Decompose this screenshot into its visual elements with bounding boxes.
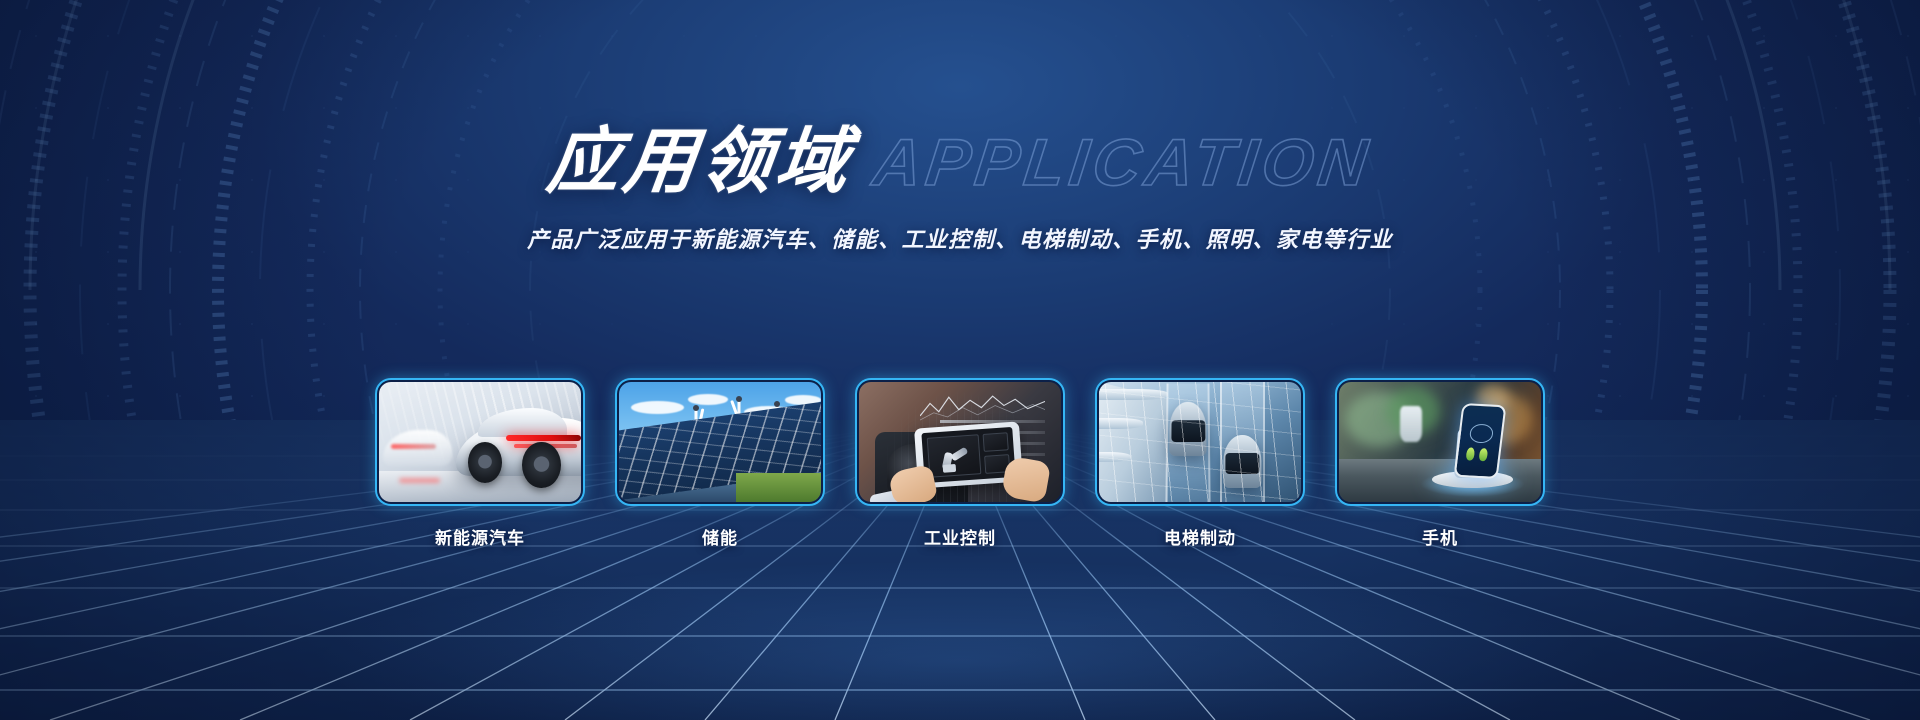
page-title-cn: 应用领域 [544,126,857,198]
application-card-ev[interactable]: 新能源汽车 [375,378,585,549]
card-thumbnail-frame[interactable] [615,378,825,506]
page-title-en: APPLICATION [870,129,1376,195]
industrial-tablet-automation-photo [859,382,1061,502]
banner-heading: 应用领域 APPLICATION [0,126,1920,198]
application-card-row: 新能源汽车 [0,378,1920,549]
card-label: 工业控制 [924,524,996,549]
application-card-energy-storage[interactable]: 储能 [615,378,825,549]
glass-elevators-photo [1099,382,1301,502]
smartphone-wireless-charger-photo [1339,382,1541,502]
application-card-mobile-phone[interactable]: 手机 [1335,378,1545,549]
card-label: 电梯制动 [1164,524,1236,549]
ev-sports-car-photo [379,382,581,502]
card-thumbnail-frame[interactable] [375,378,585,506]
card-thumbnail-frame[interactable] [1095,378,1305,506]
solar-panels-wind-turbines-photo [619,382,821,502]
card-label: 储能 [702,524,738,549]
card-thumbnail-frame[interactable] [1335,378,1545,506]
application-card-elevator-brake[interactable]: 电梯制动 [1095,378,1305,549]
application-card-industrial-control[interactable]: 工业控制 [855,378,1065,549]
application-banner: 应用领域 APPLICATION 产品广泛应用于新能源汽车、储能、工业控制、电梯… [0,0,1920,720]
card-label: 手机 [1422,524,1458,549]
card-thumbnail-frame[interactable] [855,378,1065,506]
card-label: 新能源汽车 [435,524,525,549]
banner-subtitle: 产品广泛应用于新能源汽车、储能、工业控制、电梯制动、手机、照明、家电等行业 [0,222,1920,254]
